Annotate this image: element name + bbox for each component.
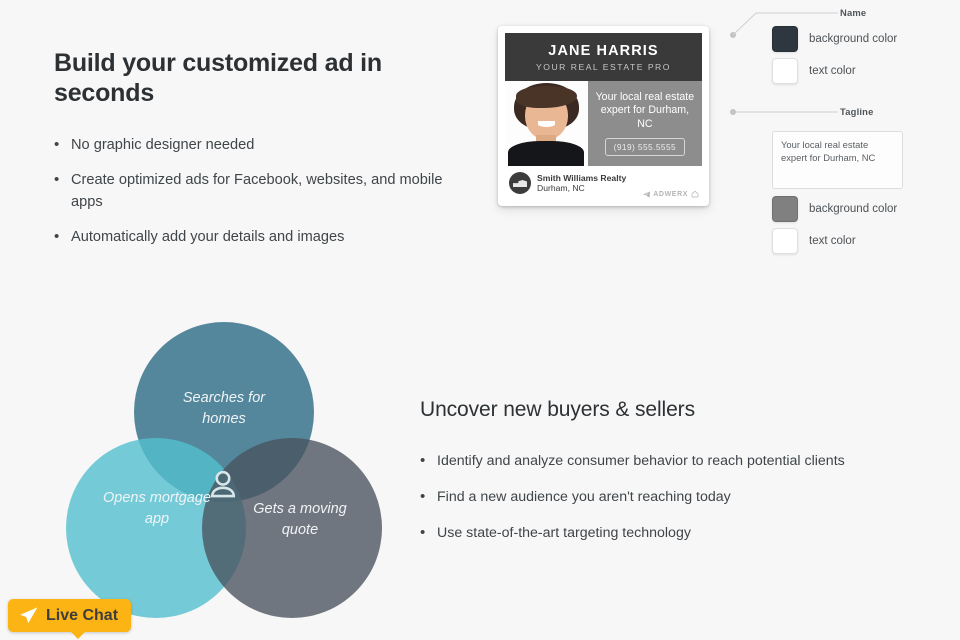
ad-preview-inner: JANE HARRIS YOUR REAL ESTATE PRO Your lo… [505, 33, 702, 200]
adwerx-label: ADWERX [653, 191, 688, 198]
paper-plane-icon [643, 191, 650, 198]
ad-body: Your local real estate expert for Durham… [505, 81, 702, 166]
uncover-buyers-section: Uncover new buyers & sellers Identify an… [420, 398, 890, 558]
page-title: Build your customized ad in seconds [54, 48, 474, 108]
tagline-text-color-row[interactable]: text color [772, 228, 856, 254]
ad-tagline-panel: Your local real estate expert for Durham… [588, 81, 702, 166]
list-item: Automatically add your details and image… [54, 226, 474, 249]
list-item: Create optimized ads for Facebook, websi… [54, 169, 474, 214]
list-item: Find a new audience you aren't reaching … [420, 486, 890, 508]
venn-label-searches: Searches for homes [165, 388, 283, 429]
adwerx-attribution: ADWERX [643, 190, 699, 198]
brokerage-name: Smith Williams Realty [537, 173, 626, 183]
ad-tagline-text: Your local real estate expert for Durham… [593, 91, 697, 131]
name-background-color-swatch[interactable] [772, 26, 798, 52]
agent-photo [505, 81, 588, 166]
build-ad-section: Build your customized ad in seconds No g… [54, 48, 474, 260]
ad-agent-subtitle: YOUR REAL ESTATE PRO [509, 62, 698, 72]
brokerage-logo-icon [509, 172, 531, 194]
ad-preview-card[interactable]: JANE HARRIS YOUR REAL ESTATE PRO Your lo… [498, 26, 709, 206]
name-text-color-row[interactable]: text color [772, 58, 856, 84]
group-label-name: Name [840, 7, 866, 18]
list-item: Use state-of-the-art targeting technolog… [420, 522, 890, 544]
tagline-background-color-row[interactable]: background color [772, 196, 897, 222]
paper-plane-icon [19, 606, 38, 625]
swatch-label: text color [809, 235, 856, 247]
name-background-color-row[interactable]: background color [772, 26, 897, 52]
live-chat-label: Live Chat [46, 607, 118, 625]
tagline-background-color-swatch[interactable] [772, 196, 798, 222]
ad-color-editor: Name background color text color Tagline… [726, 0, 960, 268]
tagline-text-color-swatch[interactable] [772, 228, 798, 254]
swatch-label: background color [809, 33, 897, 45]
build-ad-bullet-list: No graphic designer needed Create optimi… [54, 134, 474, 248]
name-text-color-swatch[interactable] [772, 58, 798, 84]
ad-footer: Smith Williams Realty Durham, NC ADWERX [505, 166, 702, 200]
person-icon [206, 467, 240, 501]
group-label-tagline: Tagline [840, 106, 874, 117]
uncover-bullet-list: Identify and analyze consumer behavior t… [420, 450, 890, 544]
swatch-label: background color [809, 203, 897, 215]
page-root: Build your customized ad in seconds No g… [0, 0, 960, 640]
venn-label-moving: Gets a moving quote [241, 499, 359, 540]
ad-phone-button[interactable]: (919) 555.5555 [605, 138, 685, 156]
tagline-leader-line [730, 106, 840, 118]
list-item: No graphic designer needed [54, 134, 474, 157]
venn-diagram: Searches for homes Opens mortgage app Ge… [66, 322, 382, 618]
venn-label-mortgage: Opens mortgage app [98, 488, 216, 529]
brokerage-location: Durham, NC [537, 183, 626, 193]
brokerage-info: Smith Williams Realty Durham, NC [537, 173, 626, 194]
list-item: Identify and analyze consumer behavior t… [420, 450, 890, 472]
tagline-input[interactable]: Your local real estate expert for Durham… [772, 131, 903, 189]
swatch-label: text color [809, 65, 856, 77]
live-chat-button[interactable]: Live Chat [8, 599, 131, 632]
ad-header: JANE HARRIS YOUR REAL ESTATE PRO [505, 33, 702, 81]
ad-agent-name: JANE HARRIS [509, 43, 698, 59]
section-title: Uncover new buyers & sellers [420, 398, 890, 422]
house-icon [691, 190, 699, 198]
